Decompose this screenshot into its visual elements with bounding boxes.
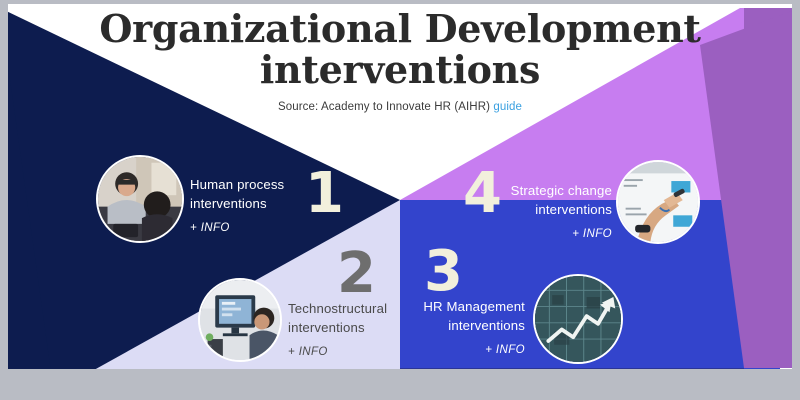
source-guide-link[interactable]: guide <box>493 101 522 113</box>
source-credit: Source: Academy to Innovate HR (AIHR) gu… <box>0 101 800 113</box>
item-3-label-line-2: interventions <box>448 318 525 333</box>
item-1-label: Human process interventions + INFO <box>190 176 320 237</box>
source-text: Source: Academy to Innovate HR (AIHR) <box>278 101 490 113</box>
item-1-number: 1 <box>305 166 344 222</box>
two-colleagues-collaborating-photo <box>98 157 182 241</box>
item-4-label-line-2: interventions <box>535 202 612 217</box>
page-title: Organizational Development interventions <box>0 8 800 90</box>
rising-chart-arrow-photo <box>535 276 621 362</box>
header-block: Organizational Development interventions… <box>0 8 800 113</box>
item-4-info-link[interactable]: + INFO <box>482 226 612 242</box>
title-line-1: Organizational Development <box>99 6 700 51</box>
item-3-photo[interactable] <box>533 274 623 364</box>
item-4-label-line-1: Strategic change <box>511 183 612 198</box>
blue-bottom-band <box>400 368 744 400</box>
title-line-2: interventions <box>40 49 760 90</box>
item-3-label: HR Management interventions + INFO <box>400 298 525 359</box>
item-3-number: 3 <box>424 244 463 300</box>
item-4-number: 4 <box>463 166 502 222</box>
item-3-info-link[interactable]: + INFO <box>400 342 525 358</box>
item-2-photo[interactable] <box>198 278 282 362</box>
item-2-number: 2 <box>337 246 376 302</box>
person-at-computer-workstation-photo <box>200 280 280 360</box>
item-1-info-link[interactable]: + INFO <box>190 220 320 236</box>
item-4-photo[interactable] <box>616 160 700 244</box>
infographic-canvas: Organizational Development interventions… <box>0 0 800 400</box>
item-2-label-line-2: interventions <box>288 320 365 335</box>
item-1-label-line-2: interventions <box>190 196 267 211</box>
item-1-label-line-1: Human process <box>190 177 284 192</box>
item-1-photo[interactable] <box>96 155 184 243</box>
hand-writing-on-whiteboard-photo <box>618 162 698 242</box>
